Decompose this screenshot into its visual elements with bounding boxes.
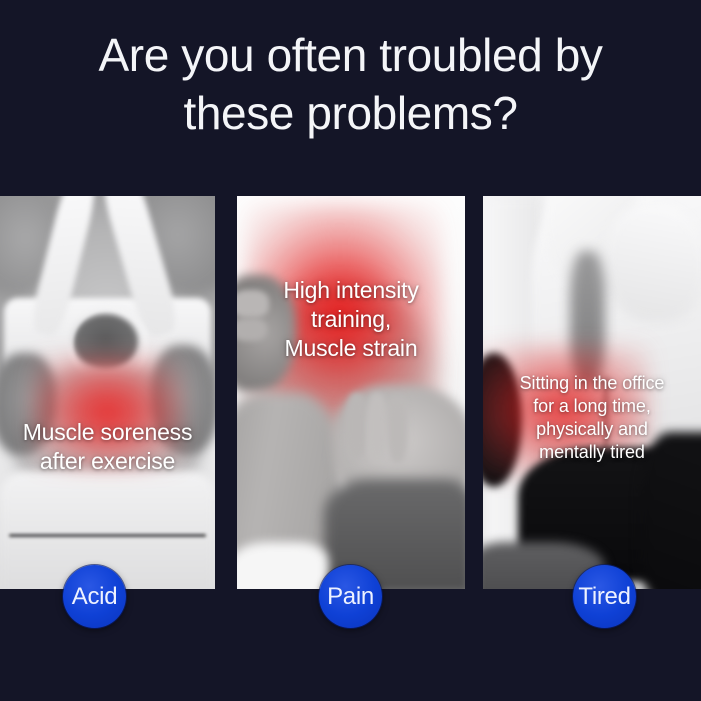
promo-poster: Are you often troubled by these problems… [0, 0, 701, 701]
badge-tired[interactable]: Tired [573, 565, 636, 628]
pain-glow-icon [30, 353, 185, 471]
badge-pain[interactable]: Pain [319, 565, 382, 628]
panel-muscle-strain[interactable]: High intensity training, Muscle strain [237, 196, 465, 589]
headline-line-1: Are you often troubled by [0, 26, 701, 84]
panel-muscle-soreness[interactable]: Muscle soreness after exercise [0, 196, 215, 589]
panel-2-photo [237, 196, 465, 589]
headline-line-2: these problems? [0, 84, 701, 142]
page-title: Are you often troubled by these problems… [0, 26, 701, 142]
badge-acid[interactable]: Acid [63, 565, 126, 628]
panel-1-photo [0, 196, 215, 589]
panel-3-photo [483, 196, 701, 589]
panel-strip: Muscle soreness after exercise [0, 196, 701, 589]
panel-office-tired[interactable]: Sitting in the office for a long time, p… [483, 196, 701, 589]
